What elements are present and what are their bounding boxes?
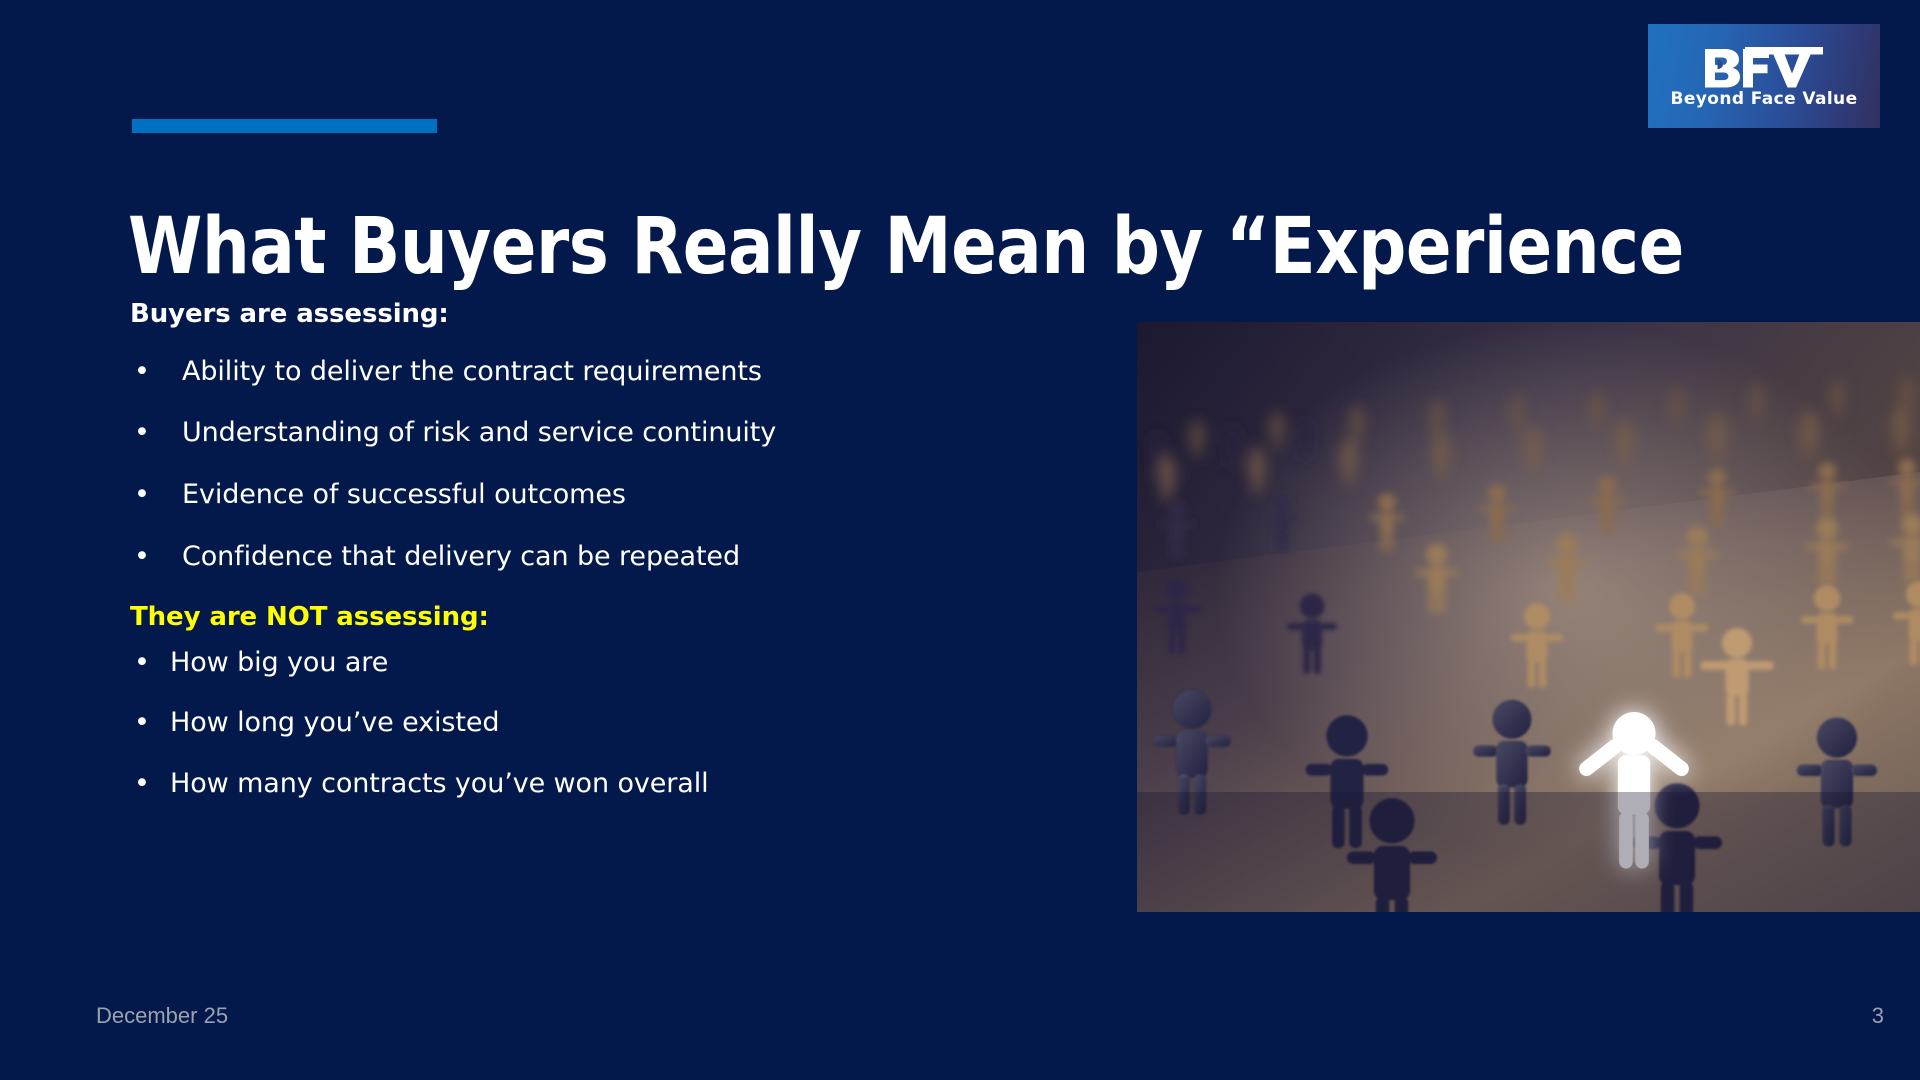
list-item: • Understanding of risk and service cont…: [130, 417, 1090, 449]
slide-date: December 25: [96, 1005, 228, 1027]
list-item: • Ability to deliver the contract requir…: [130, 356, 1090, 388]
brand-logo-badge: Beyond Face Value: [1648, 24, 1880, 128]
list-item-label: Evidence of successful outcomes: [182, 479, 626, 510]
list-item: • How many contracts you’ve won overall: [130, 768, 1090, 800]
slide-body-column: Buyers are assessing: • Ability to deliv…: [130, 300, 1090, 829]
bfv-logo-icon: [1701, 45, 1827, 89]
spacer: [130, 340, 1090, 356]
assessing-heading: Buyers are assessing:: [130, 300, 1090, 329]
presentation-slide: Beyond Face Value What Buyers Really Mea…: [0, 0, 1920, 1080]
not-assessing-heading: They are NOT assessing:: [130, 603, 1090, 632]
bullet-icon: •: [134, 768, 150, 800]
bullet-icon: •: [134, 647, 150, 679]
list-item: • Confidence that delivery can be repeat…: [130, 541, 1090, 573]
bullet-icon: •: [134, 707, 150, 739]
crowd-standout-photo: [1137, 322, 1920, 912]
list-item-label: Ability to deliver the contract requirem…: [182, 356, 762, 387]
list-item: • How long you’ve existed: [130, 707, 1090, 739]
logo-tagline: Beyond Face Value: [1670, 91, 1857, 108]
slide-page-number: 3: [1824, 1005, 1884, 1027]
list-item-label: Understanding of risk and service contin…: [182, 417, 776, 448]
bullet-icon: •: [134, 417, 150, 449]
list-item-label: Confidence that delivery can be repeated: [182, 541, 740, 572]
not-assessing-bullet-list: • How big you are • How long you’ve exis…: [130, 647, 1090, 801]
bullet-icon: •: [134, 479, 150, 511]
list-item: • How big you are: [130, 647, 1090, 679]
bullet-icon: •: [134, 541, 150, 573]
bullet-icon: •: [134, 356, 150, 388]
list-item-label: How big you are: [170, 647, 388, 678]
list-item-label: How long you’ve existed: [170, 707, 499, 738]
title-accent-bar: [132, 119, 437, 133]
list-item: • Evidence of successful outcomes: [130, 479, 1090, 511]
assessing-bullet-list: • Ability to deliver the contract requir…: [130, 356, 1090, 573]
list-item-label: How many contracts you’ve won overall: [170, 768, 709, 799]
page-title: What Buyers Really Mean by “Experience: [128, 207, 1722, 287]
